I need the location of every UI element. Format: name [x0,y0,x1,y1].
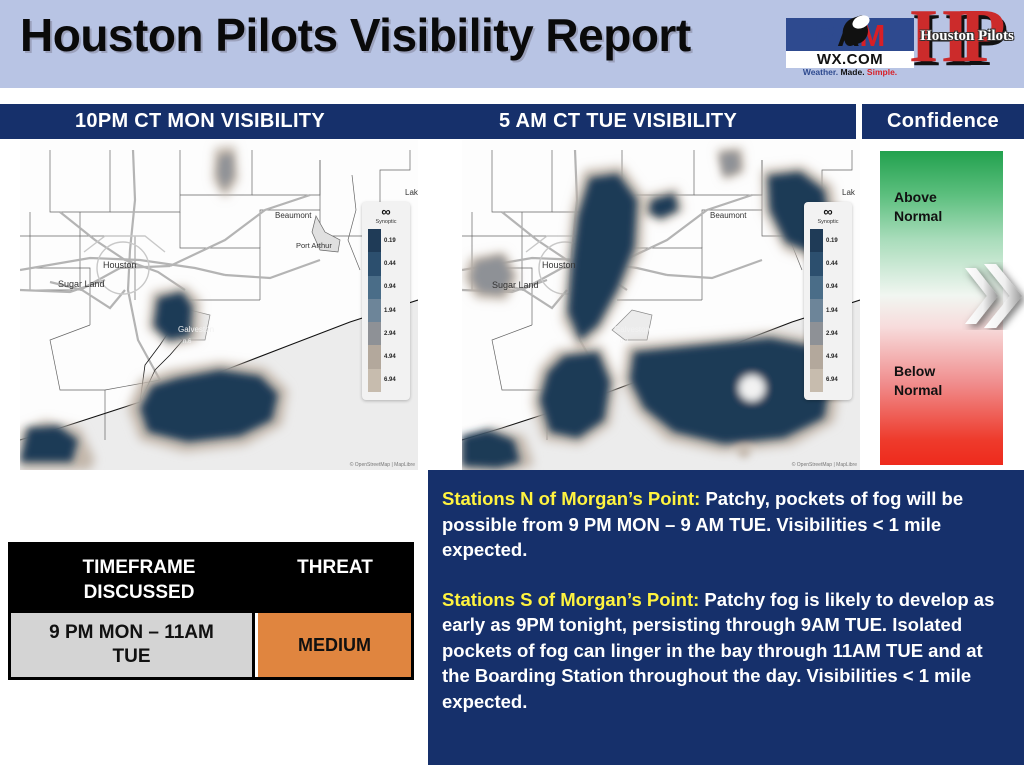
colorbar-ticks-right: 0.190.440.941.942.944.946.94 [826,229,852,392]
colorbar-segment [368,345,381,368]
colorbar-subtitle: Synoptic [804,218,852,226]
discussion-label-south: Stations S of Morgan’s Point: [442,589,699,610]
colorbar-tick-label: 2.94 [826,331,838,337]
colorbar-infinity-symbol: ∞ [362,205,410,218]
cell-threat-value: MEDIUM [258,613,411,677]
bamwx-logo: B A M WX.COM Weather. Made. Simple. [786,10,914,76]
map-right-header: 5 AM CT TUE VISIBILITY [499,110,737,133]
colorbar-tick-label: 6.94 [384,377,396,383]
map-right-canvas: Houston Sugar Land Beaumont Lak Galvesto… [462,140,860,470]
tagline-weather: Weather. [803,67,838,77]
confidence-above-normal-label: Above Normal [894,188,984,226]
map-right-colorbar: ∞ Synoptic 0.190.440.941.942.944.946.94 [804,202,852,400]
colorbar-segment [810,299,823,322]
colorbar-tick-label: 6.94 [826,377,838,383]
below-line-1: Below [894,362,984,381]
confidence-header-bar: Confidence [862,104,1024,139]
colorbar-subtitle: Synoptic [362,218,410,226]
colorbar-tick-label: 0.44 [826,261,838,267]
colorbar-segment [368,276,381,299]
city-label-houston: Houston [103,260,137,270]
colorbar-gradient-right [810,229,823,392]
maps-header-bar: 10PM CT MON VISIBILITY 5 AM CT TUE VISIB… [0,104,856,139]
bamwx-letter-b: B [815,20,837,51]
city-label-sugar-land: Sugar Land [492,280,539,290]
map-left-header: 10PM CT MON VISIBILITY [75,110,325,133]
colorbar-segment [810,369,823,392]
map-visibility-5am-tue[interactable]: Houston Sugar Land Beaumont Lak Galvesto… [462,140,860,470]
map-right-attribution: © OpenStreetMap | MapLibre [792,462,857,468]
city-label-lake: Lak [842,188,856,197]
column-header-timeframe: TIMEFRAME DISCUSSED [23,555,255,605]
colorbar-tick-label: 0.19 [384,238,396,244]
colorbar-segment [368,299,381,322]
city-label-lake: Lak [405,188,418,197]
city-label-port-arthur: Port Arthur [296,241,332,250]
timeframe-value-line-2: TUE [49,645,214,669]
map-left-canvas: Houston Sugar Land Beaumont Port Arthur … [20,140,418,470]
page-title: Houston Pilots Visibility Report [20,8,691,62]
table-header-row: TIMEFRAME DISCUSSED THREAT [11,545,411,613]
colorbar-segment [810,229,823,252]
above-line-1: Above [894,188,984,207]
below-line-2: Normal [894,381,984,400]
colorbar-gradient-left [368,229,381,392]
colorbar-segment [368,252,381,275]
galveston-value: n.6 [183,339,192,345]
houston-pilots-logo: HP Houston Pilots [910,2,1022,80]
timeframe-value-line-1: 9 PM MON – 11AM [49,621,214,645]
bamwx-letters: B A M [786,18,914,52]
map-left-colorbar: ∞ Synoptic 0.190.440.941.942.944.946.94 [362,202,410,400]
colorbar-tick-label: 0.94 [384,284,396,290]
city-label-galveston: Galveston [614,325,650,334]
discussion-panel: Stations N of Morgan’s Point: Patchy, po… [428,470,1024,765]
colorbar-segment [368,229,381,252]
colorbar-tick-label: 4.94 [826,354,838,360]
title-band: Houston Pilots Visibility Report B A M W… [0,0,1024,88]
threat-summary-table: TIMEFRAME DISCUSSED THREAT 9 PM MON – 11… [8,542,414,680]
colorbar-tick-label: 0.44 [384,261,396,267]
colorbar-segment [810,345,823,368]
colorbar-segment [368,369,381,392]
colorbar-tick-label: 0.94 [826,284,838,290]
double-chevron-left-icon [962,262,1024,330]
city-label-houston: Houston [542,260,576,270]
colorbar-tick-label: 4.94 [384,354,396,360]
bamwx-domain: WX.COM [786,51,914,68]
colorbar-tick-label: 2.94 [384,331,396,337]
cell-timeframe-value: 9 PM MON – 11AM TUE [11,613,255,677]
timeframe-header-line-1: TIMEFRAME [23,555,255,580]
colorbar-segment [810,322,823,345]
galveston-value: 0.3 [620,339,629,345]
column-header-threat: THREAT [259,555,411,580]
city-label-beaumont: Beaumont [710,211,747,220]
city-label-beaumont: Beaumont [275,211,312,220]
confidence-below-normal-label: Below Normal [894,362,984,400]
bamwx-tagline: Weather. Made. Simple. [786,67,914,77]
discussion-paragraph-north: Stations N of Morgan’s Point: Patchy, po… [442,486,1010,563]
tagline-simple: Simple. [865,67,898,77]
city-label-sugar-land: Sugar Land [58,279,105,289]
city-label-galveston: Galveston [178,325,214,334]
colorbar-segment [368,322,381,345]
colorbar-tick-label: 0.19 [826,238,838,244]
colorbar-tick-label: 1.94 [826,308,838,314]
colorbar-segment [810,252,823,275]
table-row: 9 PM MON – 11AM TUE MEDIUM [11,613,411,677]
colorbar-infinity-symbol: ∞ [804,205,852,218]
discussion-paragraph-south: Stations S of Morgan’s Point: Patchy fog… [442,587,1010,715]
colorbar-ticks-left: 0.190.440.941.942.944.946.94 [384,229,410,392]
above-line-2: Normal [894,207,984,226]
colorbar-segment [810,276,823,299]
tagline-made: Made. [838,67,864,77]
timeframe-header-line-2: DISCUSSED [23,580,255,605]
discussion-label-north: Stations N of Morgan’s Point: [442,488,700,509]
map-left-attribution: © OpenStreetMap | MapLibre [350,462,415,468]
map-visibility-10pm-mon[interactable]: Houston Sugar Land Beaumont Port Arthur … [20,140,418,470]
colorbar-tick-label: 1.94 [384,308,396,314]
houston-pilots-name: Houston Pilots [912,28,1022,45]
